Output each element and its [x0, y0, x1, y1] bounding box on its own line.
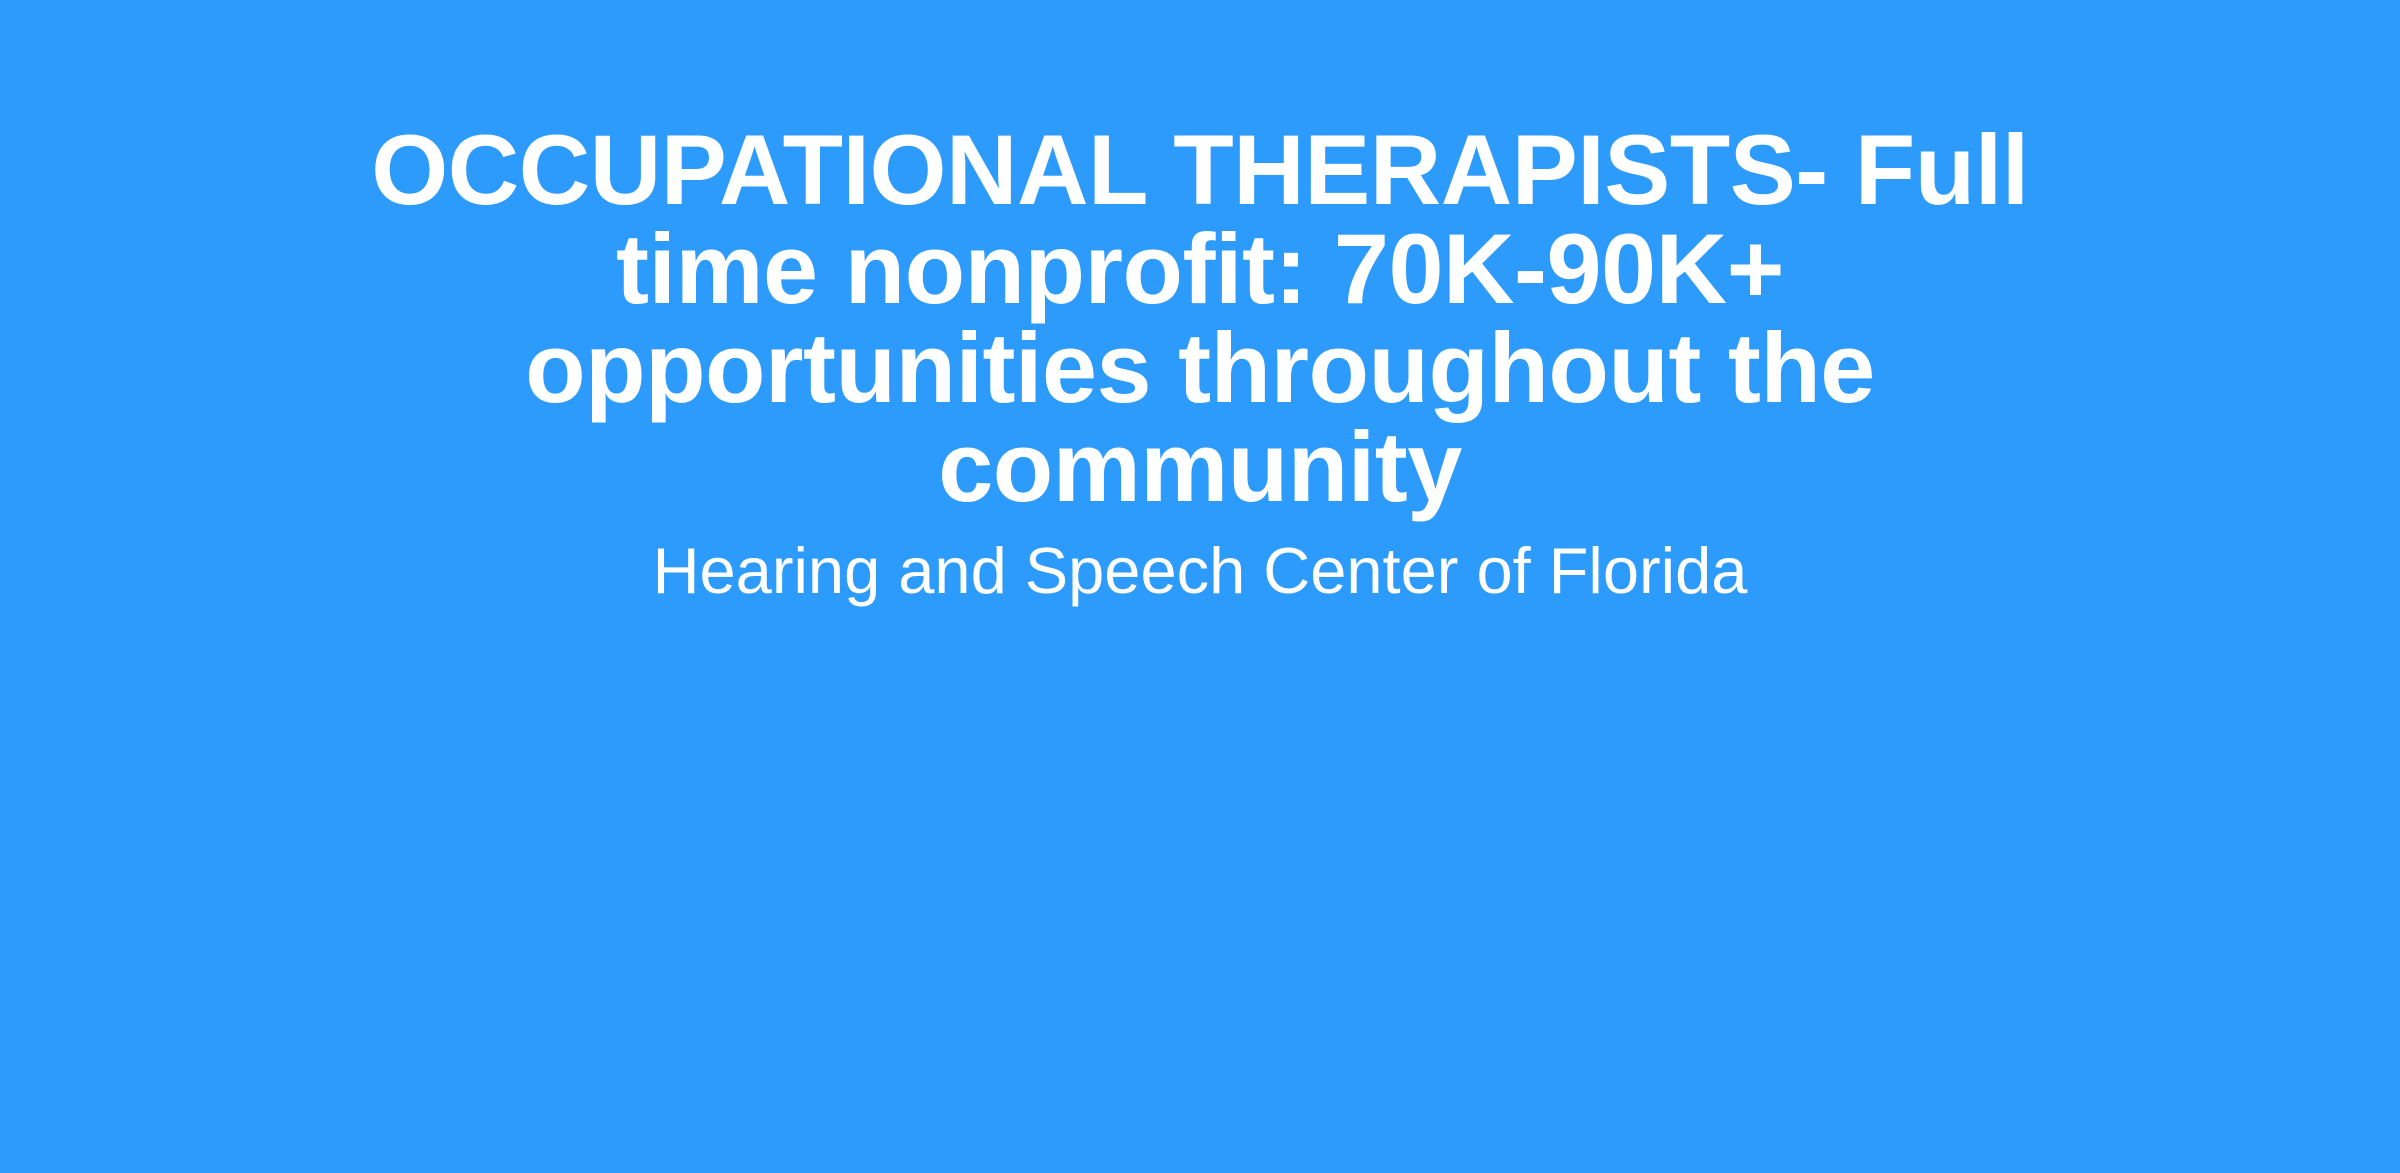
job-posting-card: OCCUPATIONAL THERAPISTS- Full time nonpr…: [0, 0, 2400, 1173]
card-content: OCCUPATIONAL THERAPISTS- Full time nonpr…: [350, 0, 2050, 609]
page-title: OCCUPATIONAL THERAPISTS- Full time nonpr…: [350, 120, 2050, 516]
organization-name: Hearing and Speech Center of Florida: [350, 516, 2050, 609]
